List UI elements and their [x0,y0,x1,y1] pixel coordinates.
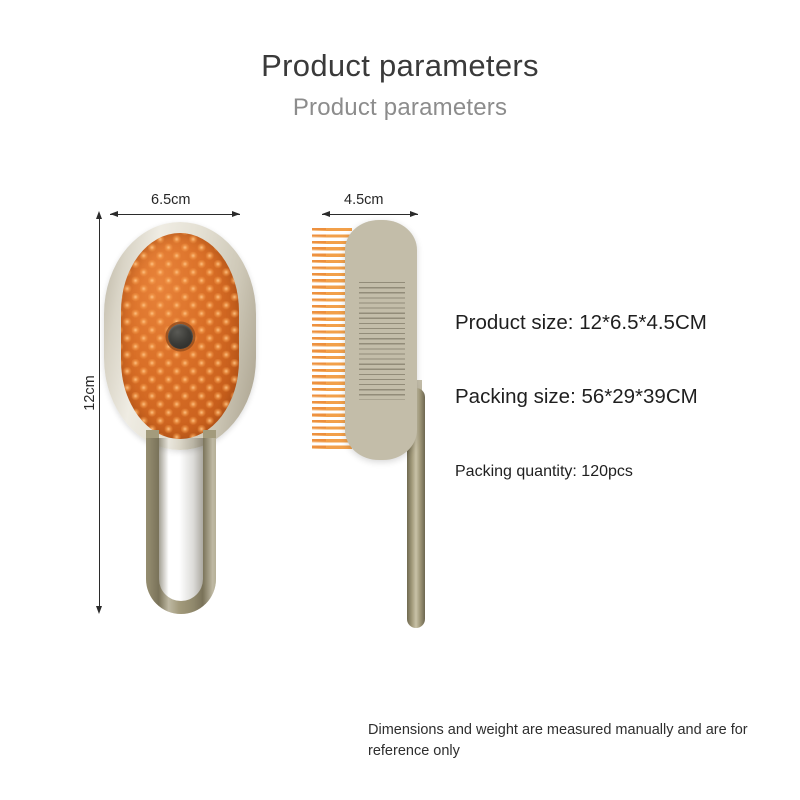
arrowhead-right-width-front [232,211,240,217]
side-bristle-tips [312,228,326,452]
arrowhead-top-height [96,211,102,219]
page-subtitle: Product parameters [0,94,800,122]
dimension-line-height [99,218,100,608]
arrowhead-right-width-side [410,211,418,217]
dimension-label-height: 12cm [82,365,98,421]
spray-nozzle [168,324,193,349]
brush-body-side [345,220,417,460]
footer-disclaimer: Dimensions and weight are measured manua… [368,720,786,761]
dimension-label-width-side: 4.5cm [344,192,384,208]
product-front-view [104,222,256,450]
spec-packing-size: Packing size: 56*29*39CM [455,385,698,409]
dimension-label-width-front: 6.5cm [151,192,191,208]
arrowhead-left-width-front [110,211,118,217]
body-grip-ridges [359,282,405,400]
front-view-handle [146,438,216,614]
bristle-pad [121,233,239,439]
dimension-line-width-front [110,214,240,215]
page-title: Product parameters [0,48,800,84]
product-side-view [312,220,432,632]
comb-teeth-left [108,262,121,412]
arrowhead-bottom-height [96,606,102,614]
spec-packing-quantity: Packing quantity: 120pcs [455,463,633,481]
dimension-line-width-side [322,214,418,215]
spec-product-size: Product size: 12*6.5*4.5CM [455,311,707,335]
comb-teeth-right [239,262,252,412]
arrowhead-left-width-side [322,211,330,217]
product-parameters-page: Product parameters Product parameters 6.… [0,0,800,800]
